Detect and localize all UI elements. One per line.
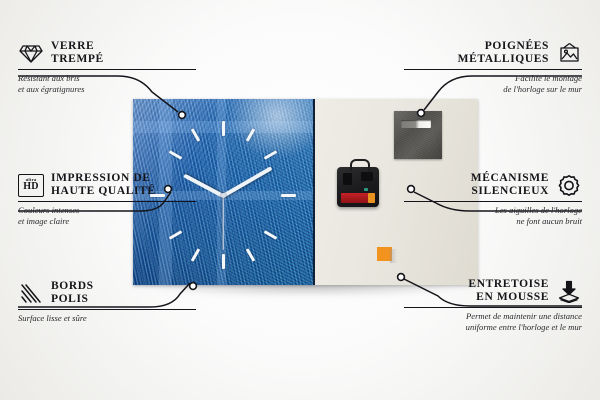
feature-subtitle: Les aiguilles de l'horloge ne font aucun… bbox=[404, 205, 582, 226]
feature-title: BORDS POLIS bbox=[51, 280, 94, 306]
clock-tick bbox=[169, 230, 183, 240]
feature-divider bbox=[18, 69, 196, 70]
clock-second-hand bbox=[222, 196, 223, 250]
feature-divider bbox=[404, 307, 582, 308]
polished-edges-icon bbox=[18, 281, 44, 305]
clock-tick bbox=[191, 128, 201, 142]
gear-icon bbox=[556, 173, 582, 197]
feature-subtitle: Permet de maintenir une distance uniform… bbox=[404, 311, 582, 332]
clock-tick bbox=[169, 150, 183, 160]
infographic-canvas: VERRE TREMPÉ Résistant aux bris et aux é… bbox=[0, 0, 600, 400]
picture-hanger-icon bbox=[556, 41, 582, 65]
foam-spacer bbox=[377, 247, 392, 261]
ultra-hd-icon: ultra HD bbox=[18, 173, 44, 197]
metal-hanger-plate bbox=[394, 111, 442, 159]
clock-center-pin bbox=[221, 193, 226, 198]
feature-entretoise-en-mousse: ENTRETOISE EN MOUSSE Permet de maintenir… bbox=[404, 278, 582, 333]
feature-divider bbox=[404, 69, 582, 70]
clock-tick bbox=[246, 248, 256, 262]
hanger-keyhole-slot bbox=[401, 120, 431, 128]
highlight-glow bbox=[227, 99, 315, 159]
feature-divider bbox=[18, 201, 196, 202]
feature-title: ENTRETOISE EN MOUSSE bbox=[468, 278, 549, 304]
mechanism-detail bbox=[343, 173, 352, 185]
feature-verre-trempe: VERRE TREMPÉ Résistant aux bris et aux é… bbox=[18, 40, 196, 95]
feature-title: IMPRESSION DE HAUTE QUALITÉ bbox=[51, 172, 156, 198]
feature-header: ENTRETOISE EN MOUSSE bbox=[404, 278, 582, 304]
feature-subtitle: Facilite le montage de l'horloge sur le … bbox=[404, 73, 582, 94]
feature-title: MÉCANISME SILENCIEUX bbox=[471, 172, 549, 198]
mechanism-hanging-loop bbox=[350, 159, 370, 171]
feature-poignees-metalliques: POIGNÉES MÉTALLIQUES Facilite le montage… bbox=[404, 40, 582, 95]
feature-mecanisme-silencieux: MÉCANISME SILENCIEUX Les aiguilles de l'… bbox=[404, 172, 582, 227]
feature-title: VERRE TREMPÉ bbox=[51, 40, 104, 66]
diamond-icon bbox=[18, 41, 44, 65]
mechanism-detail bbox=[361, 172, 373, 181]
battery-plus-terminal bbox=[368, 193, 375, 203]
mechanism-contact bbox=[364, 188, 368, 191]
feature-header: VERRE TREMPÉ bbox=[18, 40, 196, 66]
feature-header: ultra HD IMPRESSION DE HAUTE QUALITÉ bbox=[18, 172, 196, 198]
quartz-mechanism bbox=[337, 167, 379, 207]
clock-minute-hand bbox=[222, 166, 272, 197]
feature-header: MÉCANISME SILENCIEUX bbox=[404, 172, 582, 198]
feature-title: POIGNÉES MÉTALLIQUES bbox=[458, 40, 549, 66]
feature-subtitle: Surface lisse et sûre bbox=[18, 313, 196, 324]
feature-divider bbox=[404, 201, 582, 202]
foam-spacer-shadow bbox=[390, 249, 397, 263]
clock-tick bbox=[191, 248, 201, 262]
clock-tick bbox=[281, 194, 296, 197]
feature-divider bbox=[18, 309, 196, 310]
feature-subtitle: Résistant aux bris et aux égratignures bbox=[18, 73, 196, 94]
clock-tick bbox=[264, 230, 278, 240]
clock-tick bbox=[222, 254, 225, 269]
clock-tick bbox=[222, 121, 225, 136]
feature-header: BORDS POLIS bbox=[18, 280, 196, 306]
feature-subtitle: Couleurs intenses et image claire bbox=[18, 205, 196, 226]
foam-spacer-icon bbox=[556, 279, 582, 303]
feature-bords-polis: BORDS POLIS Surface lisse et sûre bbox=[18, 280, 196, 324]
feature-header: POIGNÉES MÉTALLIQUES bbox=[404, 40, 582, 66]
feature-impression-haute-qualite: ultra HD IMPRESSION DE HAUTE QUALITÉ Cou… bbox=[18, 172, 196, 227]
